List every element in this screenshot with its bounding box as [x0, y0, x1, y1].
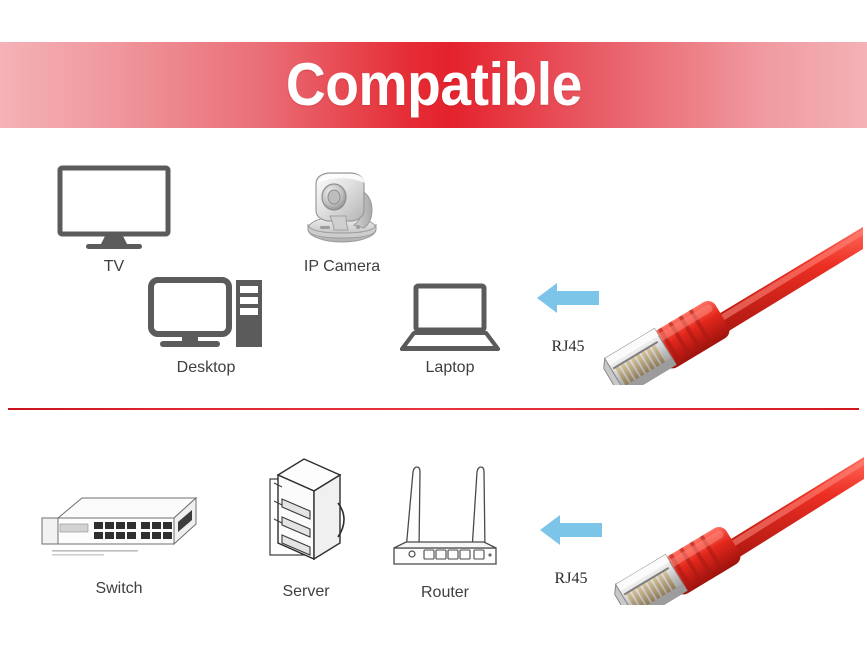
- device-label: Laptop: [426, 359, 475, 377]
- ip-camera-icon: [292, 166, 392, 252]
- banner: Compatible: [0, 42, 867, 128]
- wifi-router-icon: [386, 462, 504, 570]
- connector-label: RJ45: [552, 338, 585, 356]
- device-ip-camera: IP Camera: [292, 166, 392, 276]
- laptop-icon: [398, 283, 502, 353]
- connector-rj45-top: RJ45: [535, 280, 601, 356]
- arrow-left-icon: [538, 512, 604, 548]
- rj45-cable-icon-top: [595, 225, 867, 385]
- device-label: Switch: [95, 580, 142, 598]
- device-label: Desktop: [177, 359, 236, 377]
- device-tv: TV: [56, 164, 172, 276]
- connector-rj45-bottom: RJ45: [538, 512, 604, 588]
- page-title: Compatible: [286, 55, 582, 115]
- device-label: TV: [104, 258, 124, 276]
- device-desktop: Desktop: [148, 277, 264, 377]
- network-switch-icon: [38, 492, 200, 560]
- compatibility-diagram: Compatible TV: [0, 0, 867, 650]
- device-laptop: Laptop: [398, 283, 502, 377]
- section-divider: [8, 408, 859, 410]
- device-label: Server: [282, 583, 329, 601]
- device-label: Router: [421, 584, 469, 602]
- connector-label: RJ45: [555, 570, 588, 588]
- device-router: Router: [386, 462, 504, 602]
- device-server: Server: [260, 455, 352, 601]
- device-label: IP Camera: [304, 258, 380, 276]
- desktop-computer-icon: [148, 277, 264, 353]
- device-switch: Switch: [38, 492, 200, 598]
- tv-icon: [56, 164, 172, 252]
- arrow-left-icon: [535, 280, 601, 316]
- rj45-cable-icon-bottom: [610, 455, 867, 605]
- server-rack-icon: [260, 455, 352, 567]
